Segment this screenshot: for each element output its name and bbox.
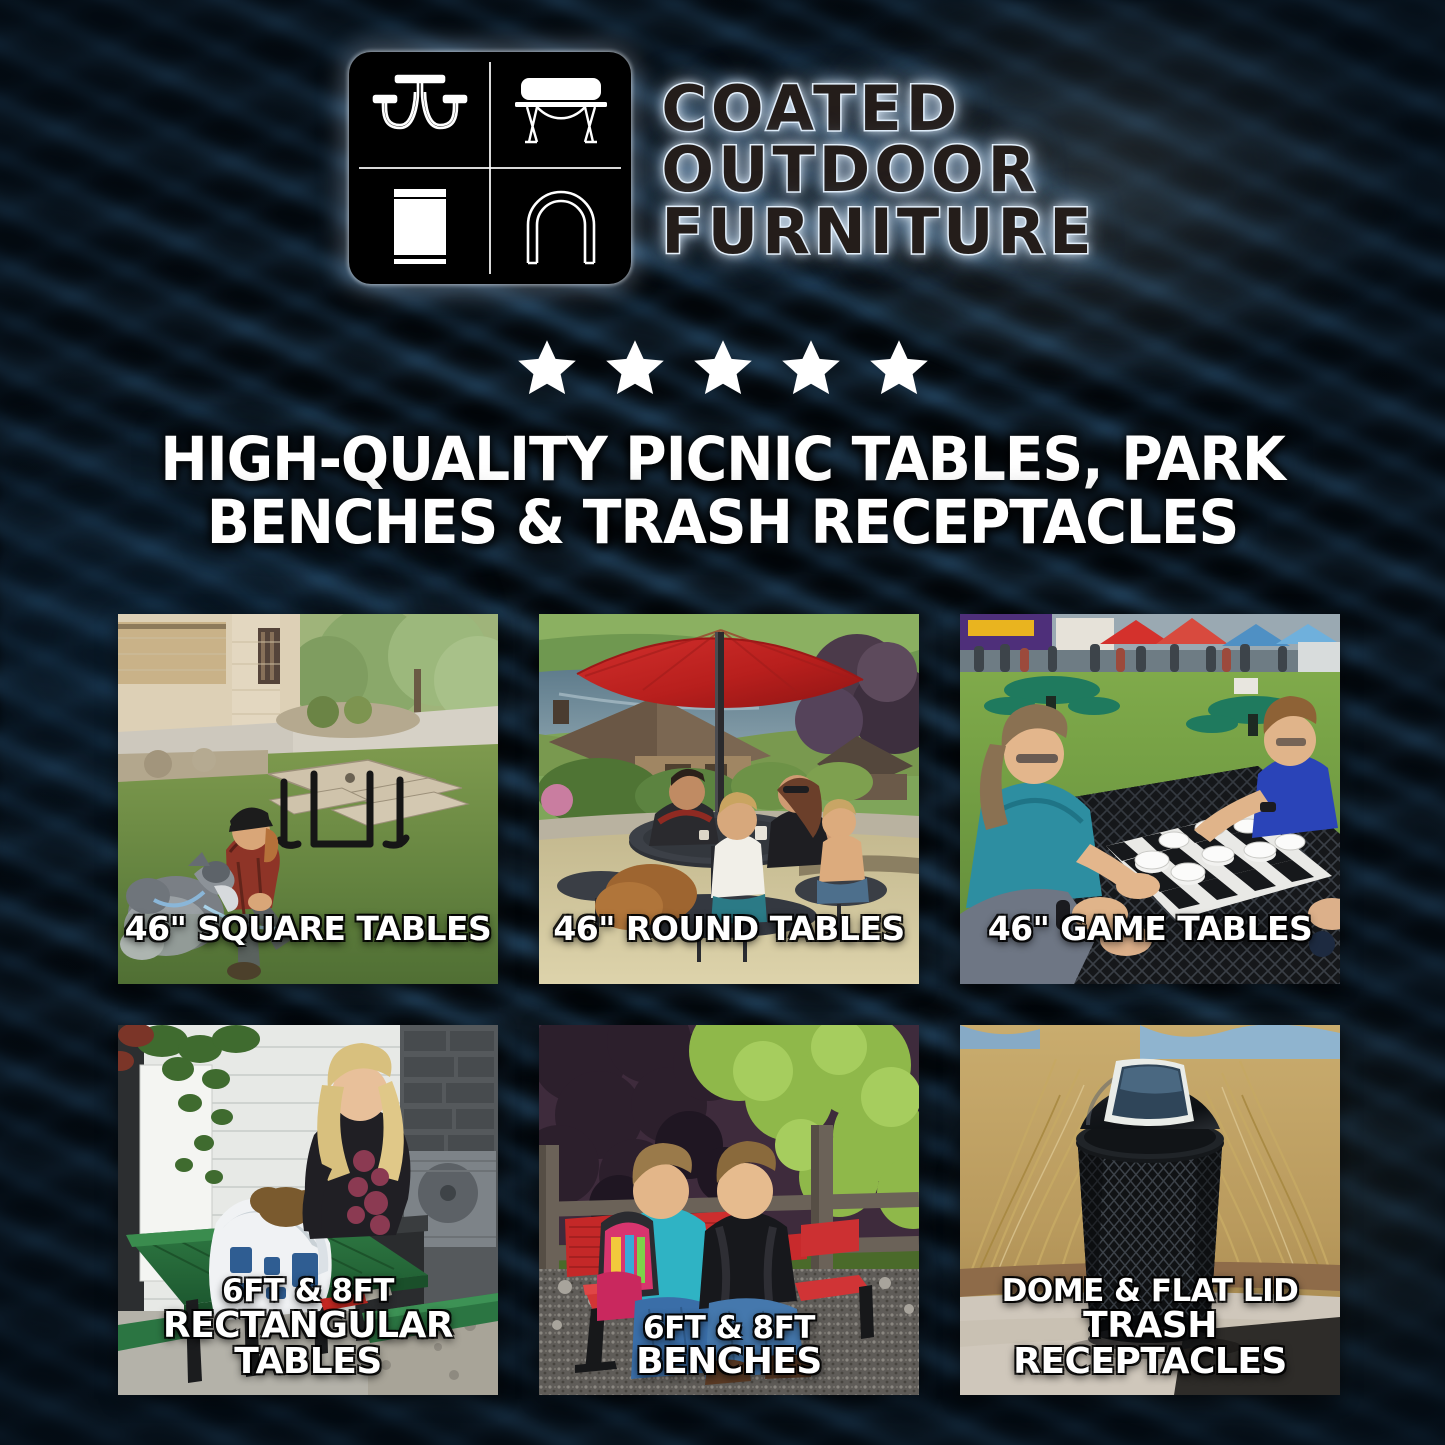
product-tile-square-tables[interactable]: 46" SQUARE TABLES: [118, 614, 498, 984]
star-icon: [602, 336, 668, 400]
product-tile-game-tables[interactable]: 46" GAME TABLES: [960, 614, 1340, 984]
brand-name-line3: FURNITURE: [661, 202, 1095, 262]
product-grid: 46" SQUARE TABLES: [118, 614, 1340, 1395]
product-caption: DOME & FLAT LID TRASH RECEPTACLES: [960, 1276, 1340, 1381]
headline-line1: HIGH-QUALITY PICNIC TABLES, PARK: [106, 428, 1338, 491]
product-caption: 6FT & 8FT RECTANGULAR TABLES: [118, 1276, 498, 1381]
product-caption-line2: RECTANGULAR TABLES: [118, 1308, 498, 1381]
product-caption-line1: 6FT & 8FT: [118, 1276, 498, 1308]
trash-receptacle-icon: [349, 168, 490, 284]
product-caption: 46" GAME TABLES: [960, 912, 1340, 946]
brand-name-line2: OUTDOOR: [661, 140, 1095, 200]
bench-table-side-icon: [490, 52, 631, 168]
star-icon: [866, 336, 932, 400]
product-caption-line1: DOME & FLAT LID: [960, 1276, 1340, 1308]
star-rating: [0, 336, 1445, 400]
product-caption-line2: BENCHES: [539, 1344, 919, 1381]
product-caption-line1: 6FT & 8FT: [539, 1313, 919, 1345]
product-caption: 46" SQUARE TABLES: [118, 912, 498, 946]
arch-bike-rack-icon: [490, 168, 631, 284]
product-caption: 6FT & 8FT BENCHES: [539, 1313, 919, 1381]
product-tile-round-tables[interactable]: 46" ROUND TABLES: [539, 614, 919, 984]
product-tile-rectangular-tables[interactable]: 6FT & 8FT RECTANGULAR TABLES: [118, 1025, 498, 1395]
brand-wordmark: COATED OUTDOOR FURNITURE: [661, 75, 1095, 262]
headline-line2: BENCHES & TRASH RECEPTACLES: [106, 491, 1338, 554]
picnic-table-front-icon: [349, 52, 490, 168]
brand-logo: COATED OUTDOOR FURNITURE: [0, 52, 1445, 284]
brand-name-line1: COATED: [661, 79, 1095, 139]
four-product-grid-icon: [349, 52, 631, 284]
star-icon: [778, 336, 844, 400]
product-tile-trash-receptacles[interactable]: DOME & FLAT LID TRASH RECEPTACLES: [960, 1025, 1340, 1395]
star-icon: [514, 336, 580, 400]
star-icon: [690, 336, 756, 400]
product-caption-line2: TRASH RECEPTACLES: [960, 1308, 1340, 1381]
product-caption: 46" ROUND TABLES: [539, 912, 919, 946]
product-tile-benches[interactable]: 6FT & 8FT BENCHES: [539, 1025, 919, 1395]
page-title: HIGH-QUALITY PICNIC TABLES, PARK BENCHES…: [106, 428, 1338, 555]
